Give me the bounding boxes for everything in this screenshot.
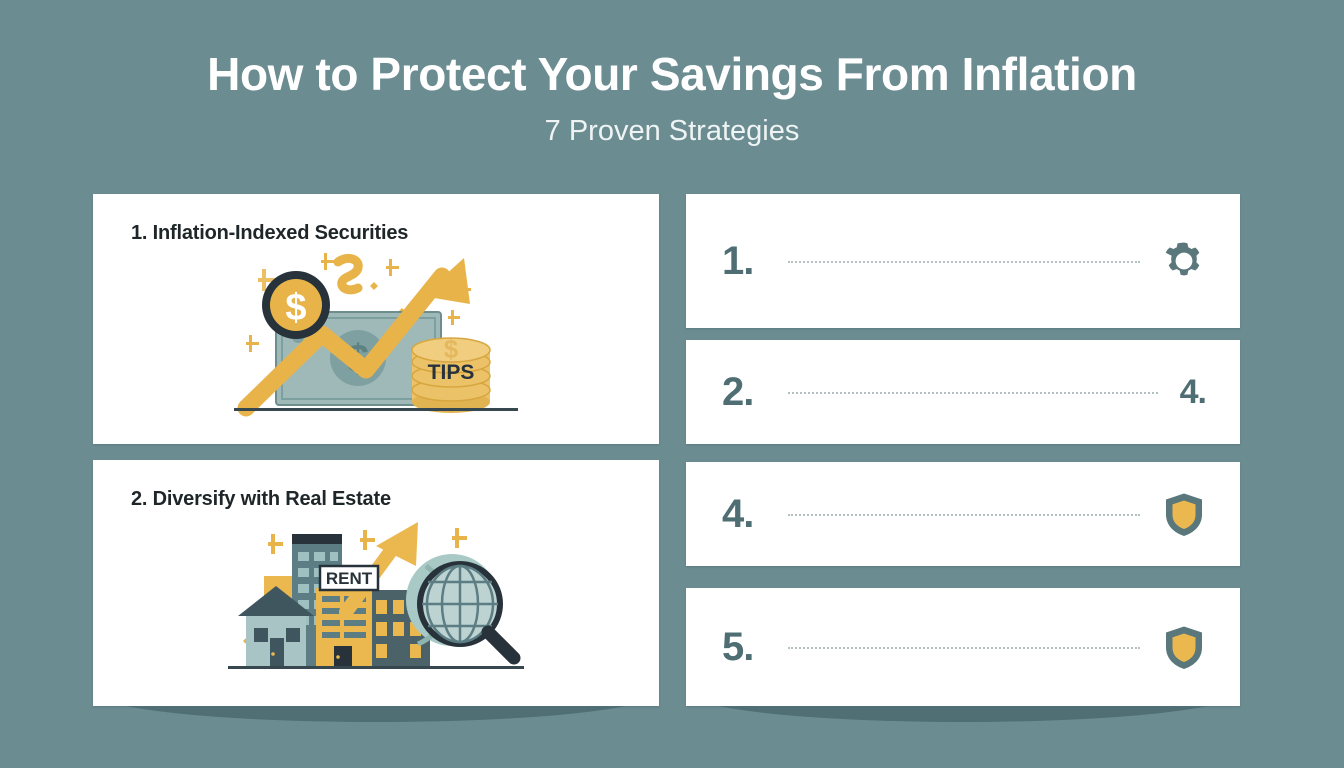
- inflation-securities-illustration: $ $ $ TIPS: [93, 242, 659, 420]
- list-row-1-number: 1.: [722, 241, 780, 281]
- list-row-2[interactable]: 2. 4.: [686, 340, 1240, 444]
- list-row-3-number: 4.: [722, 494, 780, 534]
- strategy-card-2[interactable]: 2. Diversify with Real Estate: [93, 460, 659, 706]
- strategy-card-1[interactable]: 1. Inflation-Indexed Securities: [93, 194, 659, 444]
- list-row-4-number: 5.: [722, 627, 780, 667]
- svg-text:$: $: [444, 334, 459, 364]
- list-row-3[interactable]: 4.: [686, 462, 1240, 566]
- page-subtitle: 7 Proven Strategies: [0, 102, 1344, 148]
- infographic-canvas: How to Protect Your Savings From Inflati…: [0, 0, 1344, 768]
- svg-text:$: $: [285, 287, 306, 329]
- shield-icon[interactable]: [1162, 625, 1206, 669]
- list-row-2-placeholder-rule: [788, 390, 1158, 394]
- list-row-2-number: 2.: [722, 372, 780, 412]
- gear-icon[interactable]: [1162, 239, 1206, 283]
- list-row-2-end-number: 4.: [1180, 375, 1206, 409]
- list-row-3-placeholder-rule: [788, 512, 1140, 516]
- rent-label: RENT: [326, 569, 373, 588]
- page-title: How to Protect Your Savings From Inflati…: [0, 0, 1344, 102]
- header: How to Protect Your Savings From Inflati…: [0, 0, 1344, 148]
- left-column-shadow: [93, 706, 659, 732]
- real-estate-illustration: RENT: [93, 508, 659, 680]
- shield-icon[interactable]: [1162, 492, 1206, 536]
- right-column-shadow: [686, 706, 1240, 732]
- list-row-1[interactable]: 1.: [686, 194, 1240, 328]
- tips-label: TIPS: [428, 361, 475, 384]
- list-row-4-placeholder-rule: [788, 645, 1140, 649]
- list-row-1-placeholder-rule: [788, 259, 1140, 263]
- list-row-4[interactable]: 5.: [686, 588, 1240, 706]
